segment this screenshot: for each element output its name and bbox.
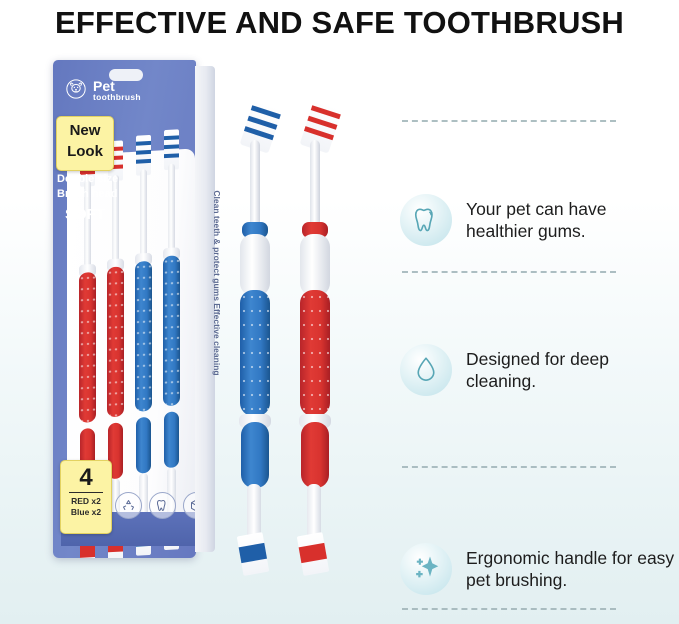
feature-divider-2: [402, 271, 616, 273]
dog-face-icon: [65, 78, 87, 105]
brush-grip: [79, 272, 96, 423]
feature-item-2: Designed for deep cleaning.: [400, 344, 676, 396]
brush-head: [300, 100, 343, 153]
package-side-text: Clean teeth & protect gums Effective cle…: [212, 163, 222, 403]
package-side-panel: Clean teeth & protect gums Effective cle…: [195, 66, 215, 552]
new-look-line2: Look: [57, 141, 113, 162]
feature-text: Ergonomic handle for easy pet brushing.: [466, 547, 676, 591]
brush-head: [240, 100, 283, 153]
new-look-badge: New Look: [56, 116, 114, 171]
package-cert-icons: [115, 492, 196, 519]
feature-text: Designed for deep cleaning.: [466, 348, 676, 392]
tooth-icon: [149, 492, 176, 519]
feature-list: Your pet can have healthier gums. Design…: [396, 46, 679, 624]
count-value: 4: [61, 465, 111, 491]
brush-grip: [135, 261, 152, 412]
feature-divider-3: [402, 466, 616, 468]
water-drop-icon: [400, 344, 452, 396]
package-brand-text: Pet toothbrush: [93, 81, 141, 103]
package-brush-3: [135, 169, 152, 170]
package-brand-logo: Pet toothbrush: [65, 78, 141, 105]
bristle-firmness-label: SOFT: [65, 206, 105, 223]
recycle-icon: [115, 492, 142, 519]
tooth-icon: [400, 194, 452, 246]
brush-head-small: [237, 532, 270, 576]
count-badge: 4 RED x2 Blue x2: [60, 460, 112, 534]
brush-grip: [240, 290, 270, 416]
sparkle-icon: [400, 543, 452, 595]
feature-item-1: Your pet can have healthier gums.: [400, 194, 676, 246]
product-image: Pet toothbrush: [0, 46, 392, 624]
claim-line-1: Double size: [57, 172, 165, 187]
feature-divider-4: [402, 608, 616, 610]
package-claim: Double size Brush head: [57, 172, 165, 202]
feature-text: Your pet can have healthier gums.: [466, 198, 676, 242]
brush-grip: [107, 266, 124, 417]
count-divider: [69, 492, 103, 493]
package-brush-4: [163, 163, 180, 164]
claim-line-2: Brush head: [57, 187, 165, 202]
brand-name: Pet: [93, 81, 141, 92]
new-look-line1: New: [57, 120, 113, 141]
brush-head-small: [297, 532, 330, 576]
package-front-panel: Pet toothbrush: [53, 60, 196, 558]
brand-subtitle: toothbrush: [93, 92, 141, 103]
product-package: Pet toothbrush: [53, 60, 213, 558]
mix-line-1: RED x2: [61, 496, 111, 507]
mix-line-2: Blue x2: [61, 507, 111, 518]
brush-grip: [163, 255, 180, 406]
feature-item-3: Ergonomic handle for easy pet brushing.: [400, 543, 676, 595]
feature-divider-1: [402, 120, 616, 122]
brush-grip: [300, 290, 330, 416]
page-title: EFFECTIVE AND SAFE TOOTHBRUSH: [0, 0, 679, 46]
